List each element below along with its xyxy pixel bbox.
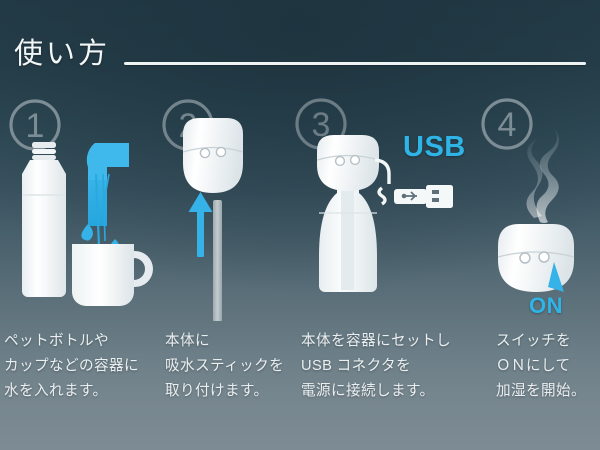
- svg-text:4: 4: [498, 106, 517, 144]
- step-4: 4 ON スイッチを ＯＮにして: [480, 96, 600, 446]
- caption-line: 吸水スティックを: [165, 354, 305, 379]
- step-1-caption: ペットボトルや カップなどの容器に 水を入れます。: [4, 329, 159, 404]
- step-4-caption: スイッチを ＯＮにして 加湿を開始。: [496, 329, 600, 404]
- page-header: 使い方: [0, 34, 600, 80]
- step-4-illustration: 4 ON: [480, 96, 600, 321]
- up-arrow-icon: [189, 192, 213, 257]
- caption-line: 水を入れます。: [4, 379, 159, 404]
- humidifier-body-icon: [498, 224, 574, 292]
- caption-line: 本体に: [165, 329, 305, 354]
- step-2-illustration: 2: [155, 96, 295, 321]
- step-3-caption: 本体を容器にセットし USB コネクタを 電源に接続します。: [301, 329, 486, 404]
- usb-connector-icon: [394, 185, 453, 208]
- caption-line: USB コネクタを: [301, 354, 486, 379]
- step-3: 3: [295, 96, 480, 446]
- infographic-page: 使い方: [0, 0, 600, 450]
- on-text-label: ON: [529, 293, 563, 319]
- caption-line: カップなどの容器に: [4, 354, 159, 379]
- title-divider: [124, 62, 586, 65]
- caption-line: 加湿を開始。: [496, 379, 600, 404]
- caption-line: スイッチを: [496, 329, 600, 354]
- caption-line: 電源に接続します。: [301, 379, 486, 404]
- plastic-bottle-icon: [22, 142, 66, 297]
- mug-icon: [72, 244, 153, 306]
- caption-line: ペットボトルや: [4, 329, 159, 354]
- step-2-caption: 本体に 吸水スティックを 取り付けます。: [165, 329, 305, 404]
- humidifier-body-icon: [183, 118, 243, 193]
- usb-text-label: USB: [403, 131, 466, 164]
- page-title: 使い方: [14, 34, 110, 74]
- step-4-badge-icon: 4: [483, 100, 531, 148]
- absorbent-stick-icon: [213, 200, 222, 321]
- step-3-illustration: 3: [295, 96, 480, 321]
- step-1-illustration: 1: [0, 96, 155, 321]
- mist-plume-icon: [526, 128, 559, 223]
- humidifier-on-bottle-icon: [317, 135, 379, 292]
- caption-line: 取り付けます。: [165, 379, 305, 404]
- step-1: 1: [0, 96, 155, 446]
- step-2: 2 本体に 吸水スティックを 取り付: [155, 96, 295, 446]
- caption-line: 本体を容器にセットし: [301, 329, 486, 354]
- caption-line: ＯＮにして: [496, 354, 600, 379]
- svg-text:1: 1: [26, 107, 45, 145]
- step-1-badge-icon: 1: [11, 101, 59, 149]
